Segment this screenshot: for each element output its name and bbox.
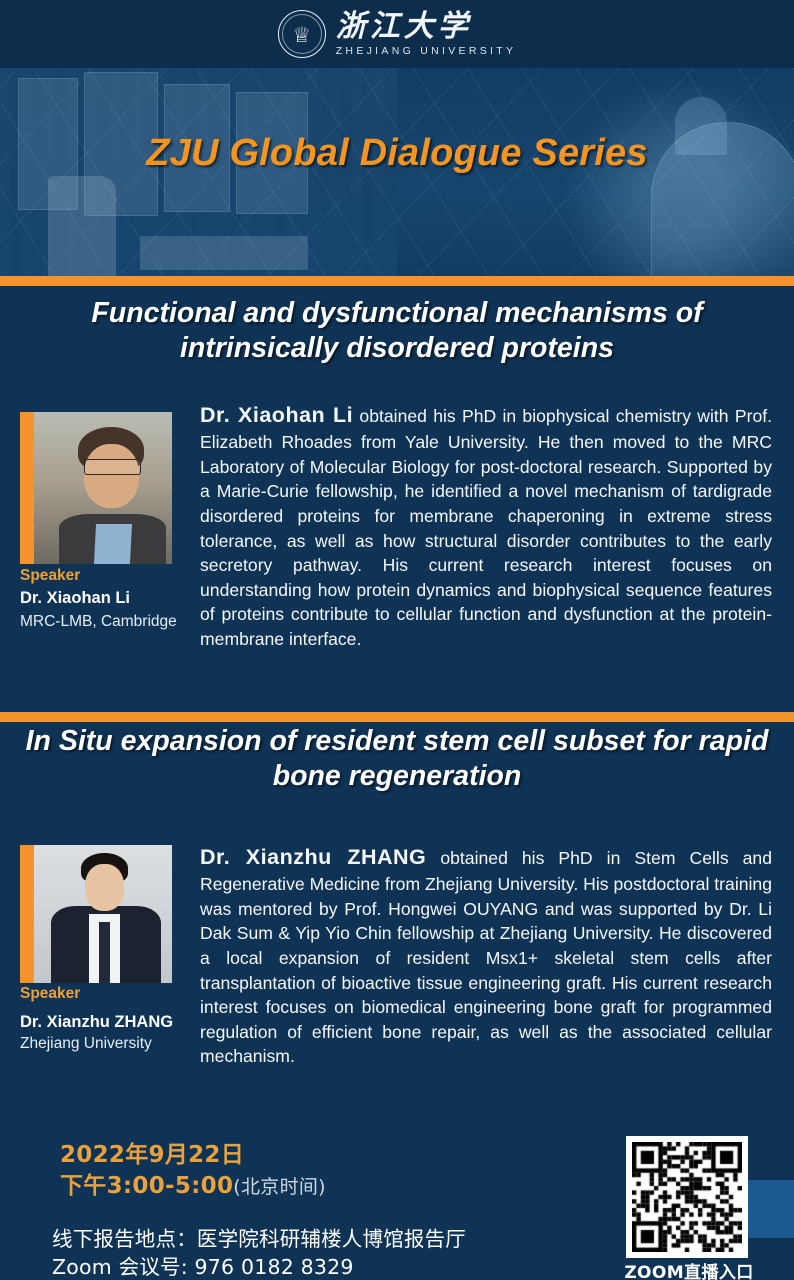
university-name-cn: 浙江大学 (336, 11, 472, 43)
talk-title-2: In Situ expansion of resident stem cell … (16, 724, 778, 794)
speaker-photo-2-image (34, 845, 172, 983)
speaker-bio-body-1: obtained his PhD in biophysical chemistr… (200, 406, 772, 649)
speaker-name-2: Dr. Xianzhu ZHANG (20, 1012, 196, 1033)
talk-title-1: Functional and dysfunctional mechanisms … (16, 296, 778, 366)
speaker-affiliation-1: MRC-LMB, Cambridge (20, 612, 196, 632)
hero-banner: ZJU Global Dialogue Series (0, 68, 794, 276)
poster-root: ♕ 浙江大学 ZHEJIANG UNIVERSITY ZJU Global Di… (0, 0, 794, 1280)
eyeglasses-icon (84, 459, 141, 475)
event-time: 下午3:00-5:00(北京时间) (60, 1166, 326, 1200)
speaker-label-1: Speaker (20, 566, 196, 587)
speaker-info-1: Speaker Dr. Xiaohan Li MRC-LMB, Cambridg… (20, 566, 196, 632)
speaker-photo-2 (20, 845, 172, 983)
logo-lockup: ♕ 浙江大学 ZHEJIANG UNIVERSITY (278, 10, 517, 58)
speaker-affiliation-2: Zhejiang University (20, 1034, 196, 1054)
event-venue: 线下报告地点：医学院科研辅楼人博馆报告厅 (52, 1222, 466, 1252)
event-date: 2022年9月22日 (60, 1135, 244, 1169)
speaker-bio-lead-2: Dr. Xianzhu ZHANG (200, 845, 426, 869)
speaker-photo-1 (20, 412, 172, 564)
series-title: ZJU Global Dialogue Series (0, 132, 794, 175)
zoom-meeting-id: Zoom 会议号: 976 0182 8329 (52, 1250, 354, 1280)
university-logo-bar: ♕ 浙江大学 ZHEJIANG UNIVERSITY (0, 0, 794, 68)
speaker-bio-2: Dr. Xianzhu ZHANG obtained his PhD in St… (200, 842, 772, 1069)
qr-code-canvas[interactable] (632, 1142, 742, 1252)
speaker-info-2: Speaker Dr. Xianzhu ZHANG Zhejiang Unive… (20, 984, 196, 1054)
speaker-photo-1-image (34, 412, 172, 564)
speaker-bio-1: Dr. Xiaohan Li obtained his PhD in bioph… (200, 400, 772, 652)
university-name-en: ZHEJIANG UNIVERSITY (336, 45, 517, 57)
seal-glyph-icon: ♕ (292, 25, 311, 46)
divider-top (0, 276, 794, 286)
logo-text-group: 浙江大学 ZHEJIANG UNIVERSITY (336, 11, 517, 57)
speaker-name-1: Dr. Xiaohan Li (20, 588, 196, 609)
speaker-bio-lead-1: Dr. Xiaohan Li (200, 403, 353, 427)
speaker-label-2: Speaker (20, 984, 196, 1005)
event-time-value: 下午3:00-5:00 (60, 1173, 233, 1199)
divider-middle (0, 712, 794, 722)
speaker-bio-body-2: obtained his PhD in Stem Cells and Regen… (200, 848, 772, 1066)
qr-code-icon[interactable] (626, 1136, 748, 1258)
event-timezone: (北京时间) (233, 1176, 326, 1198)
zju-seal-icon: ♕ (278, 10, 326, 58)
qr-caption: ZOOM直播入口 (598, 1258, 780, 1280)
